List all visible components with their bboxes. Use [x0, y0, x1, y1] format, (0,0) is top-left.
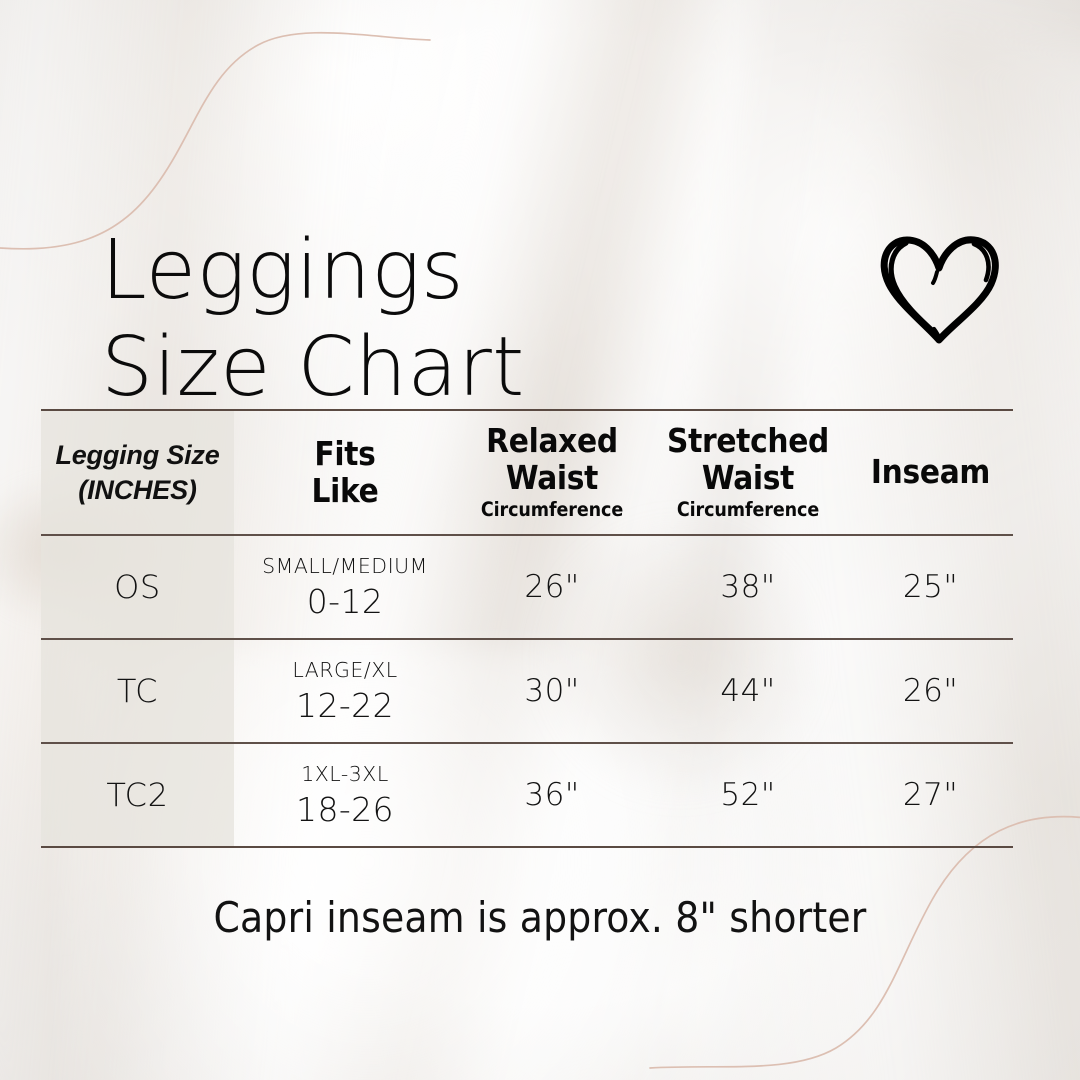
- table-bottom-rule-row: [41, 847, 1013, 848]
- cell-fits-like-range: 18-26: [234, 793, 456, 826]
- table-row: TC2 1XL-3XL 18-26 36" 52" 27": [41, 743, 1013, 847]
- cell-relaxed-waist: 26": [456, 535, 648, 639]
- table-bottom-rule: [41, 847, 234, 848]
- cell-fits-like-label: LARGE/XL: [234, 660, 456, 681]
- table-header-row: Legging Size (INCHES) Fits Like Relaxed …: [41, 410, 1013, 535]
- cell-inseam: 26": [848, 639, 1013, 743]
- cell-size: TC: [41, 639, 234, 743]
- column-header-relaxed-waist-label: Relaxed Waist: [456, 423, 648, 497]
- cell-stretched-waist: 52": [648, 743, 848, 847]
- page-title-line-1: Leggings: [101, 223, 701, 320]
- column-header-inseam: Inseam: [848, 410, 1013, 535]
- column-header-legging-size-line-2: (INCHES): [78, 475, 196, 505]
- cell-inseam: 25": [848, 535, 1013, 639]
- column-header-relaxed-waist-sublabel: Circumference: [456, 498, 648, 522]
- table-row: OS SMALL/MEDIUM 0-12 26" 38" 25": [41, 535, 1013, 639]
- cell-fits-like-label: 1XL-3XL: [234, 764, 456, 785]
- size-chart-table-container: Legging Size (INCHES) Fits Like Relaxed …: [41, 409, 1013, 848]
- column-header-stretched-waist: Stretched Waist Circumference: [648, 410, 848, 535]
- capri-inseam-note: Capri inseam is approx. 8" shorter: [0, 893, 1080, 942]
- cell-fits-like: LARGE/XL 12-22: [234, 639, 456, 743]
- cell-stretched-waist: 44": [648, 639, 848, 743]
- table-bottom-rule: [234, 847, 456, 848]
- table-bottom-rule: [456, 847, 648, 848]
- cell-relaxed-waist: 36": [456, 743, 648, 847]
- cell-fits-like: SMALL/MEDIUM 0-12: [234, 535, 456, 639]
- column-header-stretched-waist-sublabel: Circumference: [648, 498, 848, 522]
- cell-size: TC2: [41, 743, 234, 847]
- column-header-fits-like-label: Fits Like: [234, 436, 456, 510]
- cell-fits-like-label: SMALL/MEDIUM: [234, 556, 456, 577]
- size-chart-graphic: Leggings Size Chart Legging Size (INCHES…: [0, 0, 1080, 1080]
- cell-stretched-waist: 38": [648, 535, 848, 639]
- page-title: Leggings Size Chart: [101, 223, 701, 417]
- column-header-fits-like: Fits Like: [234, 410, 456, 535]
- cell-fits-like: 1XL-3XL 18-26: [234, 743, 456, 847]
- table-bottom-rule: [848, 847, 1013, 848]
- cell-relaxed-waist: 30": [456, 639, 648, 743]
- column-header-legging-size-line-1: Legging Size: [55, 440, 219, 470]
- column-header-inseam-label: Inseam: [848, 454, 1013, 491]
- column-header-legging-size: Legging Size (INCHES): [41, 410, 234, 535]
- page-title-line-2: Size Chart: [101, 320, 701, 417]
- cell-size: OS: [41, 535, 234, 639]
- cell-fits-like-range: 0-12: [234, 585, 456, 618]
- size-chart-table: Legging Size (INCHES) Fits Like Relaxed …: [41, 409, 1013, 848]
- column-header-stretched-waist-label: Stretched Waist: [648, 423, 848, 497]
- heart-doodle-icon: [873, 228, 1005, 352]
- cell-fits-like-range: 12-22: [234, 689, 456, 722]
- cell-inseam: 27": [848, 743, 1013, 847]
- column-header-relaxed-waist: Relaxed Waist Circumference: [456, 410, 648, 535]
- table-bottom-rule: [648, 847, 848, 848]
- table-row: TC LARGE/XL 12-22 30" 44" 26": [41, 639, 1013, 743]
